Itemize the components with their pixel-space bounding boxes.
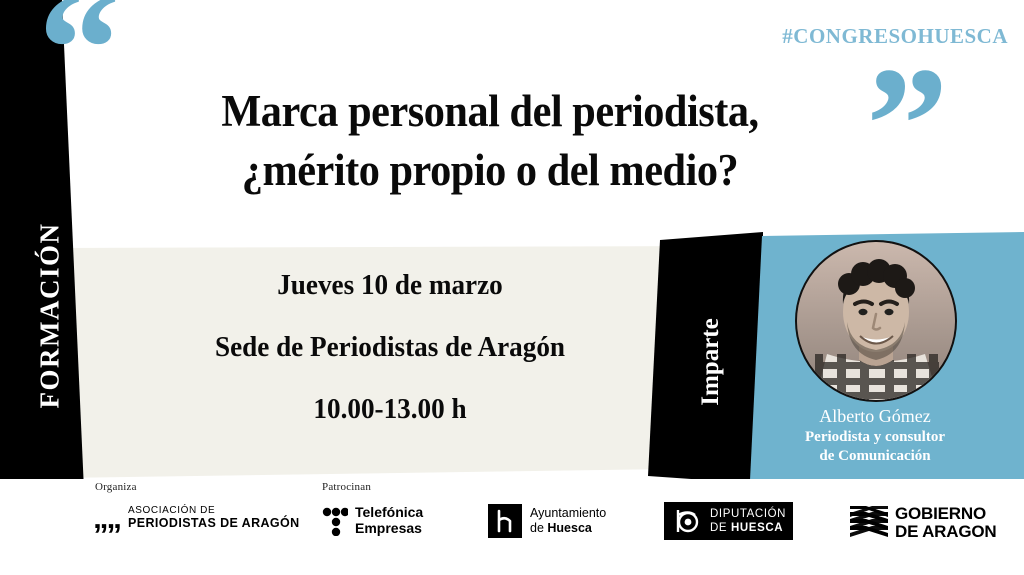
page-title: Marca personal del periodista, ¿mérito p… — [120, 82, 860, 201]
diputacion-huesca: HUESCA — [731, 522, 783, 534]
title-line-1: Marca personal del periodista, — [142, 82, 838, 141]
category-label: FORMACIÓN — [35, 206, 66, 426]
ayuntamiento-huesca: Huesca — [547, 521, 591, 535]
logo-asociacion-periodistas-aragon: „„ ASOCIACIÓN DE PERIODISTAS DE ARAGÓN — [93, 505, 300, 530]
event-time: 10.00-13.00 h — [128, 396, 652, 424]
ayuntamiento-line-1: Ayuntamiento — [530, 506, 606, 521]
logo-gobierno-aragon: GOBIERNO DE ARAGON — [848, 505, 996, 542]
event-hashtag: #CONGRESOHUESCA — [782, 24, 1008, 49]
event-venue: Sede de Periodistas de Aragón — [128, 334, 652, 362]
quote-close-icon: ” — [866, 42, 949, 207]
speaker-name: Alberto Gómez — [760, 406, 990, 427]
ayuntamiento-de: de — [530, 521, 547, 535]
poster-canvas: FORMACIÓN #CONGRESOHUESCA “ ” Marca pers… — [0, 0, 1024, 575]
diputacion-de: DE — [710, 522, 731, 534]
diputacion-line-1: DIPUTACIÓN — [710, 507, 786, 521]
event-info-list: Jueves 10 de marzo Sede de Periodistas d… — [120, 272, 660, 424]
speaker-role: Periodista y consultor de Comunicación — [760, 428, 990, 466]
apa-line-2: PERIODISTAS DE ARAGÓN — [128, 516, 300, 530]
telefonica-dots-icon — [322, 506, 348, 536]
speaker-photo-icon — [797, 242, 955, 400]
speaker-avatar — [795, 240, 957, 402]
ayuntamiento-h-icon — [488, 504, 522, 538]
ayuntamiento-line-2: de Huesca — [530, 521, 606, 536]
logo-ayuntamiento-huesca: Ayuntamiento de Huesca — [488, 504, 606, 538]
gobierno-line-2: DE ARAGON — [895, 523, 996, 541]
telefonica-line-1: Telefónica — [355, 505, 423, 521]
patrocinan-label: Patrocinan — [322, 481, 371, 493]
speaker-role-line-1: Periodista y consultor — [760, 428, 990, 447]
imparte-label: Imparte — [697, 277, 725, 447]
logo-diputacion-huesca: DIPUTACIÓN DE HUESCA — [664, 502, 793, 540]
gobierno-aragon-bars-icon — [848, 506, 890, 540]
telefonica-line-2: Empresas — [355, 521, 423, 537]
sponsor-footer: Organiza „„ ASOCIACIÓN DE PERIODISTAS DE… — [0, 479, 1024, 575]
logo-telefonica-empresas: Telefónica Empresas — [322, 505, 423, 536]
title-line-2: ¿mérito propio o del medio? — [142, 141, 838, 200]
apa-line-1: ASOCIACIÓN DE — [128, 505, 300, 516]
diputacion-line-2: DE HUESCA — [710, 521, 786, 535]
organiza-label: Organiza — [95, 481, 137, 493]
speaker-role-line-2: de Comunicación — [760, 447, 990, 466]
quote-open-icon: “ — [38, 0, 121, 131]
event-date: Jueves 10 de marzo — [128, 272, 652, 300]
gobierno-line-1: GOBIERNO — [895, 505, 996, 523]
diputacion-mark-icon — [671, 506, 703, 536]
apa-quote-mark-icon: „„ — [93, 507, 120, 529]
